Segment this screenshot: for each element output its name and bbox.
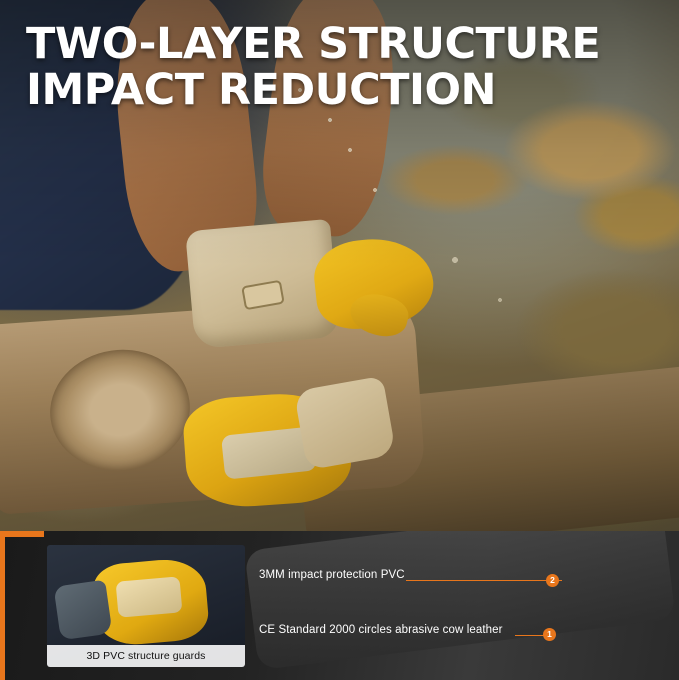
accent-bar-left [0,531,5,680]
feature-callout-panel: 3D PVC structure guards [0,531,679,680]
callout-label-leather: CE Standard 2000 circles abrasive cow le… [259,624,503,636]
page-title: TWO-LAYER STRUCTURE IMPACT REDUCTION [26,22,600,113]
card-caption: 3D PVC structure guards [47,645,245,667]
accent-bar-top [0,531,44,537]
callout-badge-1: 1 [543,628,556,641]
panel-background-log [244,531,675,670]
product-feature-image: TWO-LAYER STRUCTURE IMPACT REDUCTION 3D … [0,0,679,680]
callout-badge-2: 2 [546,574,559,587]
card-glove-cuff [53,580,112,641]
hero-photo: TWO-LAYER STRUCTURE IMPACT REDUCTION [0,0,679,531]
callout-label-pvc: 3MM impact protection PVC [259,569,405,581]
pvc-guard-card: 3D PVC structure guards [47,545,245,667]
card-glove-pad [116,576,183,617]
callout-leader-line-1 [406,580,562,581]
